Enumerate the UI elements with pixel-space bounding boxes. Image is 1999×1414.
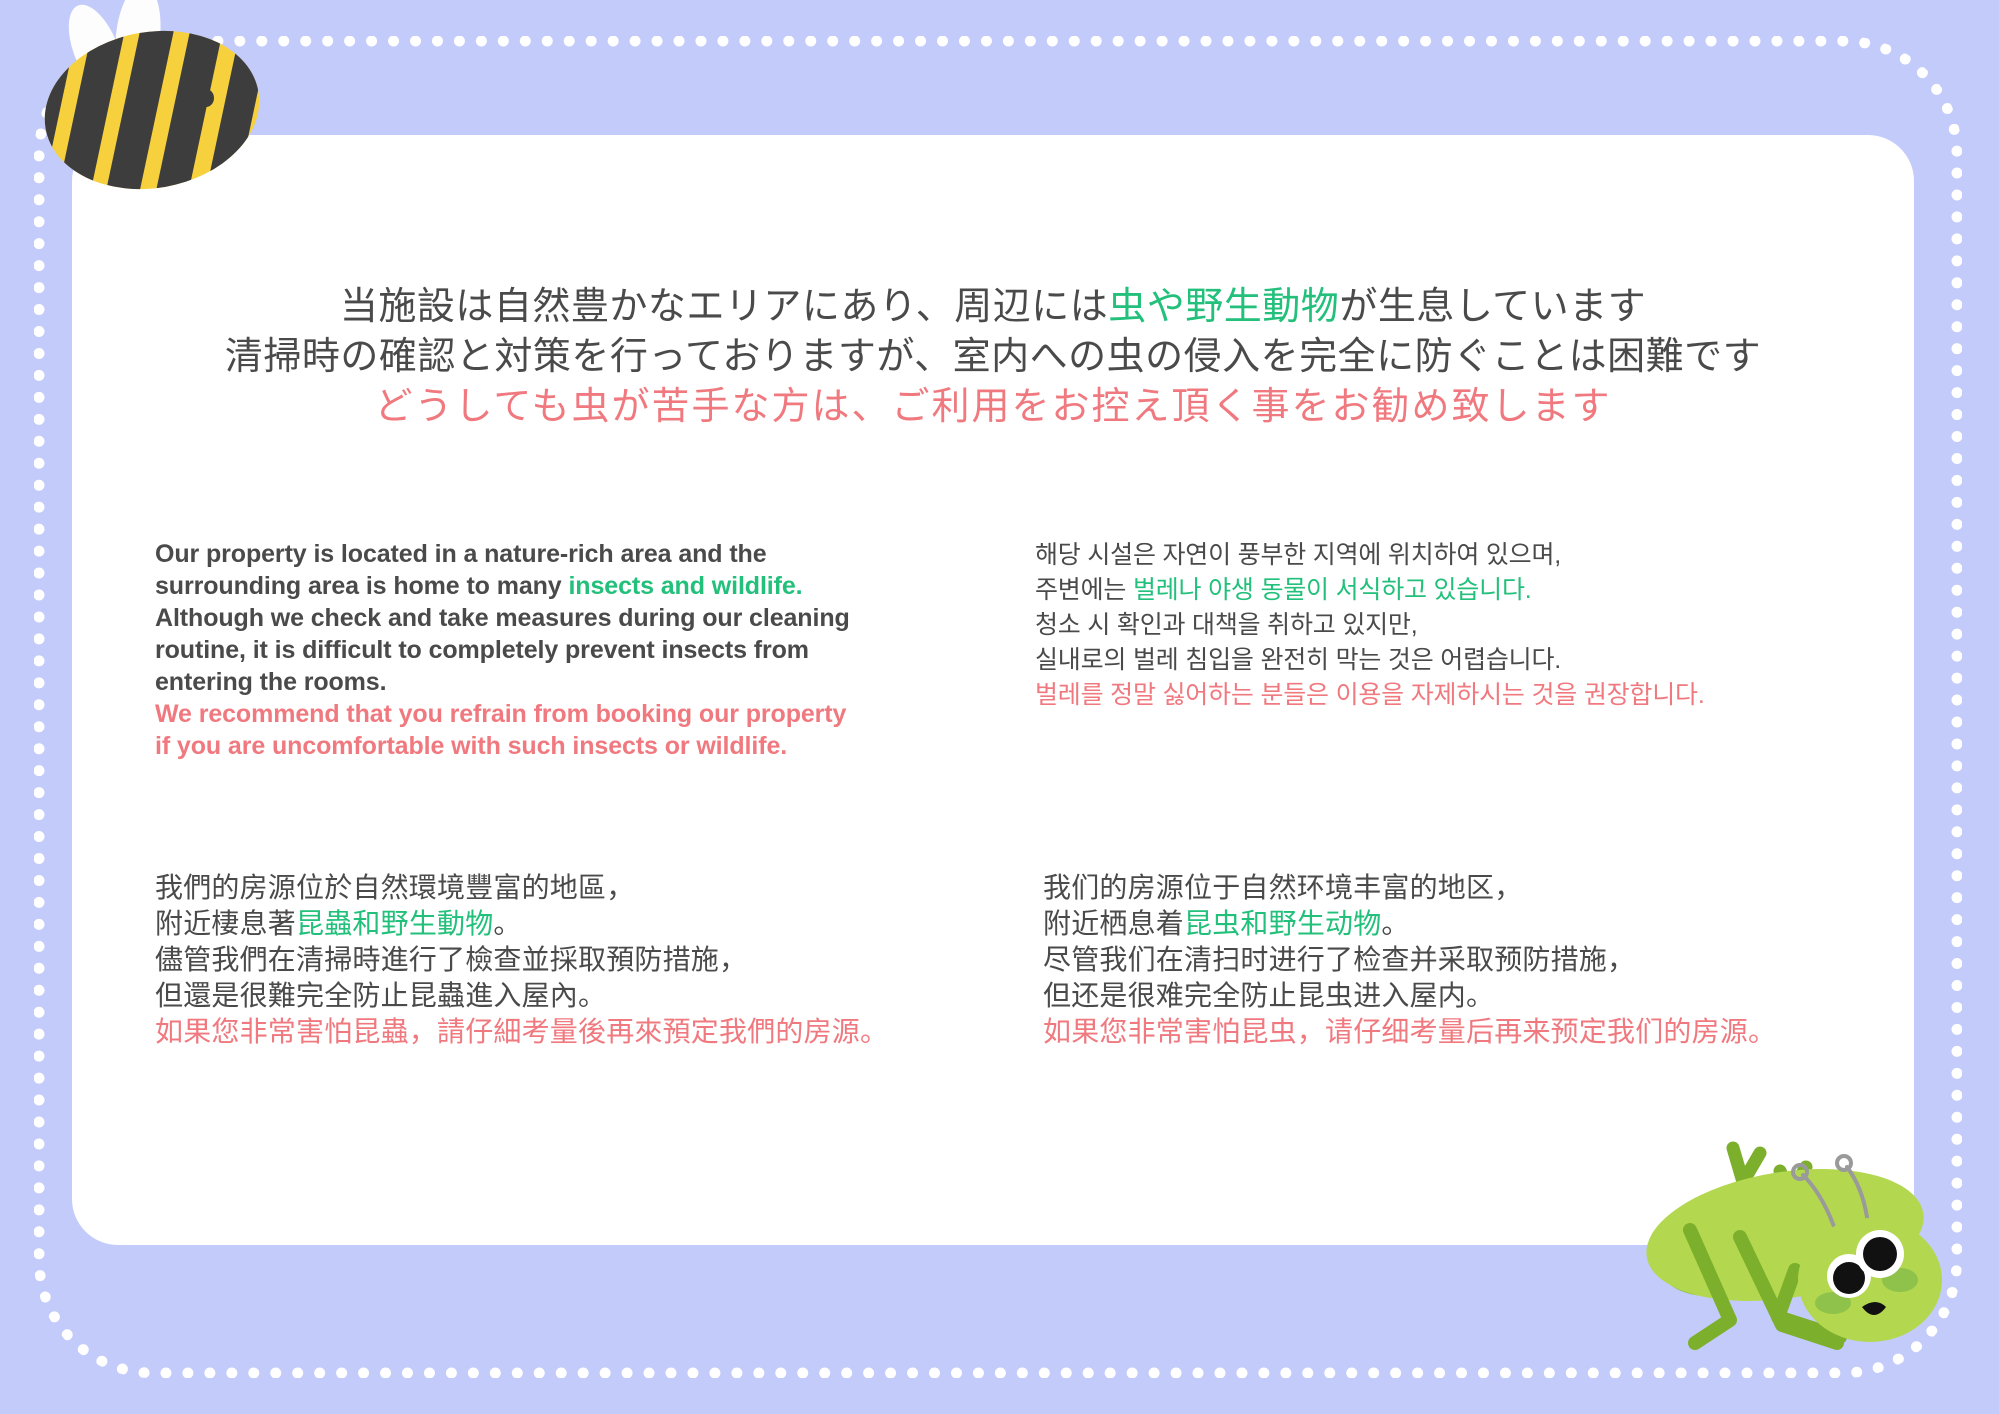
japanese-notice: 当施設は自然豊かなエリアにあり、周辺には虫や野生動物が生息しています 清掃時の確… xyxy=(72,282,1914,432)
chinese-traditional-line-1: 我們的房源位於自然環境豐富的地區， xyxy=(155,870,975,906)
english-line-1: Our property is located in a nature-rich… xyxy=(155,538,975,570)
english-line-2: surrounding area is home to many insects… xyxy=(155,570,975,602)
english-line-5: entering the rooms. xyxy=(155,666,975,698)
grasshopper-illustration xyxy=(1600,1075,1999,1414)
chinese-simplified-line-2-segment: 昆虫和野生动物 xyxy=(1184,908,1381,939)
chinese-simplified-line-2-segment: 附近栖息着 xyxy=(1043,908,1184,939)
bee-illustration xyxy=(24,0,274,218)
chinese-simplified-line-4: 但还是很难完全防止昆虫进入屋内。 xyxy=(1043,978,1873,1014)
notice-poster: 当施設は自然豊かなエリアにあり、周辺には虫や野生動物が生息しています 清掃時の確… xyxy=(0,0,1999,1414)
chinese-traditional-line-5: 如果您非常害怕昆蟲，請仔細考量後再來預定我們的房源。 xyxy=(155,1014,975,1050)
korean-line-1-segment: 해당 시설은 자연이 풍부한 지역에 위치하여 있으며, xyxy=(1035,541,1561,569)
english-line-4: routine, it is difficult to completely p… xyxy=(155,634,975,666)
korean-line-3: 청소 시 확인과 대책을 취하고 있지만, xyxy=(1035,608,1865,643)
chinese-simplified-line-4-segment: 但还是很难完全防止昆虫进入屋内。 xyxy=(1043,980,1494,1011)
chinese-traditional-line-3: 儘管我們在清掃時進行了檢查並採取預防措施， xyxy=(155,942,975,978)
chinese-simplified-line-5-segment: 如果您非常害怕昆虫，请仔细考量后再来预定我们的房源。 xyxy=(1043,1016,1776,1047)
chinese-traditional-line-4: 但還是很難完全防止昆蟲進入屋內。 xyxy=(155,978,975,1014)
japanese-line-1-segment: が生息しています xyxy=(1339,286,1646,328)
japanese-line-2-segment: 清掃時の確認と対策を行っておりますが、室内への虫の侵入を完全に防ぐことは困難です xyxy=(225,336,1761,378)
korean-line-3-segment: 청소 시 확인과 대책을 취하고 있지만, xyxy=(1035,611,1417,639)
chinese-simplified-line-3-segment: 尽管我们在清扫时进行了检查并采取预防措施， xyxy=(1043,944,1635,975)
english-line-6: We recommend that you refrain from booki… xyxy=(155,698,975,730)
chinese-simplified-line-1-segment: 我们的房源位于自然环境丰富的地区， xyxy=(1043,872,1522,903)
english-line-5-segment: entering the rooms. xyxy=(155,668,386,696)
bee-eye-icon xyxy=(198,89,214,107)
korean-line-1: 해당 시설은 자연이 풍부한 지역에 위치하여 있으며, xyxy=(1035,538,1865,573)
chinese-simplified-notice: 我们的房源位于自然环境丰富的地区，附近栖息着昆虫和野生动物。尽管我们在清扫时进行… xyxy=(1043,870,1873,1050)
english-line-7: if you are uncomfortable with such insec… xyxy=(155,730,975,762)
korean-notice: 해당 시설은 자연이 풍부한 지역에 위치하여 있으며,주변에는 벌레나 야생 … xyxy=(1035,538,1865,713)
english-line-6-segment: We recommend that you refrain from booki… xyxy=(155,700,846,728)
chinese-simplified-line-5: 如果您非常害怕昆虫，请仔细考量后再来预定我们的房源。 xyxy=(1043,1014,1873,1050)
chinese-simplified-line-1: 我们的房源位于自然环境丰富的地区， xyxy=(1043,870,1873,906)
japanese-line-2: 清掃時の確認と対策を行っておりますが、室内への虫の侵入を完全に防ぐことは困難です xyxy=(72,332,1914,382)
chinese-traditional-line-4-segment: 但還是很難完全防止昆蟲進入屋內。 xyxy=(155,980,606,1011)
korean-line-2-segment: 벌레나 야생 동물이 서식하고 있습니다. xyxy=(1133,576,1532,604)
chinese-traditional-line-2-segment: 附近棲息著 xyxy=(155,908,296,939)
korean-line-4-segment: 실내로의 벌레 침입을 완전히 막는 것은 어렵습니다. xyxy=(1035,646,1561,674)
japanese-line-1-segment: 当施設は自然豊かなエリアにあり、周辺には xyxy=(340,286,1108,328)
english-line-3: Although we check and take measures duri… xyxy=(155,602,975,634)
japanese-line-3: どうしても虫が苦手な方は、ご利用をお控え頂く事をお勧め致します xyxy=(72,382,1914,432)
japanese-line-1-segment: 虫や野生動物 xyxy=(1108,286,1339,328)
korean-line-5-segment: 벌레를 정말 싫어하는 분들은 이용을 자제하시는 것을 권장합니다. xyxy=(1035,681,1705,709)
bee-body-icon xyxy=(24,0,274,218)
chinese-simplified-line-2: 附近栖息着昆虫和野生动物。 xyxy=(1043,906,1873,942)
chinese-traditional-line-2-segment: 。 xyxy=(493,908,521,939)
english-line-2-segment: insects and wildlife. xyxy=(568,572,802,600)
korean-line-2: 주변에는 벌레나 야생 동물이 서식하고 있습니다. xyxy=(1035,573,1865,608)
english-line-1-segment: Our property is located in a nature-rich… xyxy=(155,540,767,568)
chinese-traditional-line-3-segment: 儘管我們在清掃時進行了檢查並採取預防措施， xyxy=(155,944,747,975)
chinese-traditional-line-2-segment: 昆蟲和野生動物 xyxy=(296,908,493,939)
korean-line-4: 실내로의 벌레 침입을 완전히 막는 것은 어렵습니다. xyxy=(1035,643,1865,678)
english-line-2-segment: surrounding area is home to many xyxy=(155,572,568,600)
chinese-traditional-line-1-segment: 我們的房源位於自然環境豐富的地區， xyxy=(155,872,634,903)
chinese-simplified-line-2-segment: 。 xyxy=(1381,908,1409,939)
japanese-line-3-segment: どうしても虫が苦手な方は、ご利用をお控え頂く事をお勧め致します xyxy=(375,386,1612,428)
english-notice: Our property is located in a nature-rich… xyxy=(155,538,975,762)
english-line-7-segment: if you are uncomfortable with such insec… xyxy=(155,732,787,760)
chinese-traditional-notice: 我們的房源位於自然環境豐富的地區，附近棲息著昆蟲和野生動物。儘管我們在清掃時進行… xyxy=(155,870,975,1050)
english-line-4-segment: routine, it is difficult to completely p… xyxy=(155,636,809,664)
english-line-3-segment: Although we check and take measures duri… xyxy=(155,604,850,632)
chinese-simplified-line-3: 尽管我们在清扫时进行了检查并采取预防措施， xyxy=(1043,942,1873,978)
chinese-traditional-line-2: 附近棲息著昆蟲和野生動物。 xyxy=(155,906,975,942)
japanese-line-1: 当施設は自然豊かなエリアにあり、周辺には虫や野生動物が生息しています xyxy=(72,282,1914,332)
korean-line-5: 벌레를 정말 싫어하는 분들은 이용을 자제하시는 것을 권장합니다. xyxy=(1035,678,1865,713)
chinese-traditional-line-5-segment: 如果您非常害怕昆蟲，請仔細考量後再來預定我們的房源。 xyxy=(155,1016,888,1047)
korean-line-2-segment: 주변에는 xyxy=(1035,576,1133,604)
